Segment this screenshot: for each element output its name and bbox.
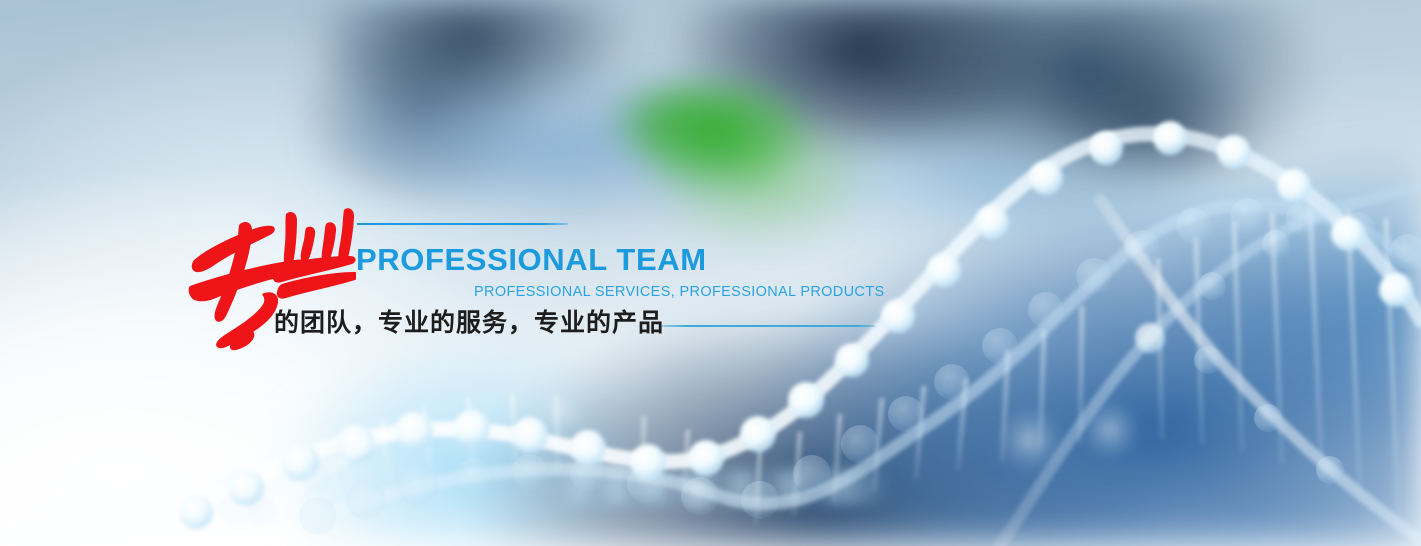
- page-title: PROFESSIONAL TEAM: [356, 244, 707, 275]
- page-subtitle: PROFESSIONAL SERVICES, PROFESSIONAL PROD…: [474, 285, 884, 300]
- banner-content: PROFESSIONAL TEAM PROFESSIONAL SERVICES,…: [0, 0, 1421, 546]
- chinese-tagline: 的团队，专业的服务，专业的产品: [274, 307, 664, 338]
- decorative-rule-top: [357, 223, 568, 225]
- decorative-rule-bottom: [662, 325, 875, 327]
- hero-banner: PROFESSIONAL TEAM PROFESSIONAL SERVICES,…: [0, 0, 1421, 546]
